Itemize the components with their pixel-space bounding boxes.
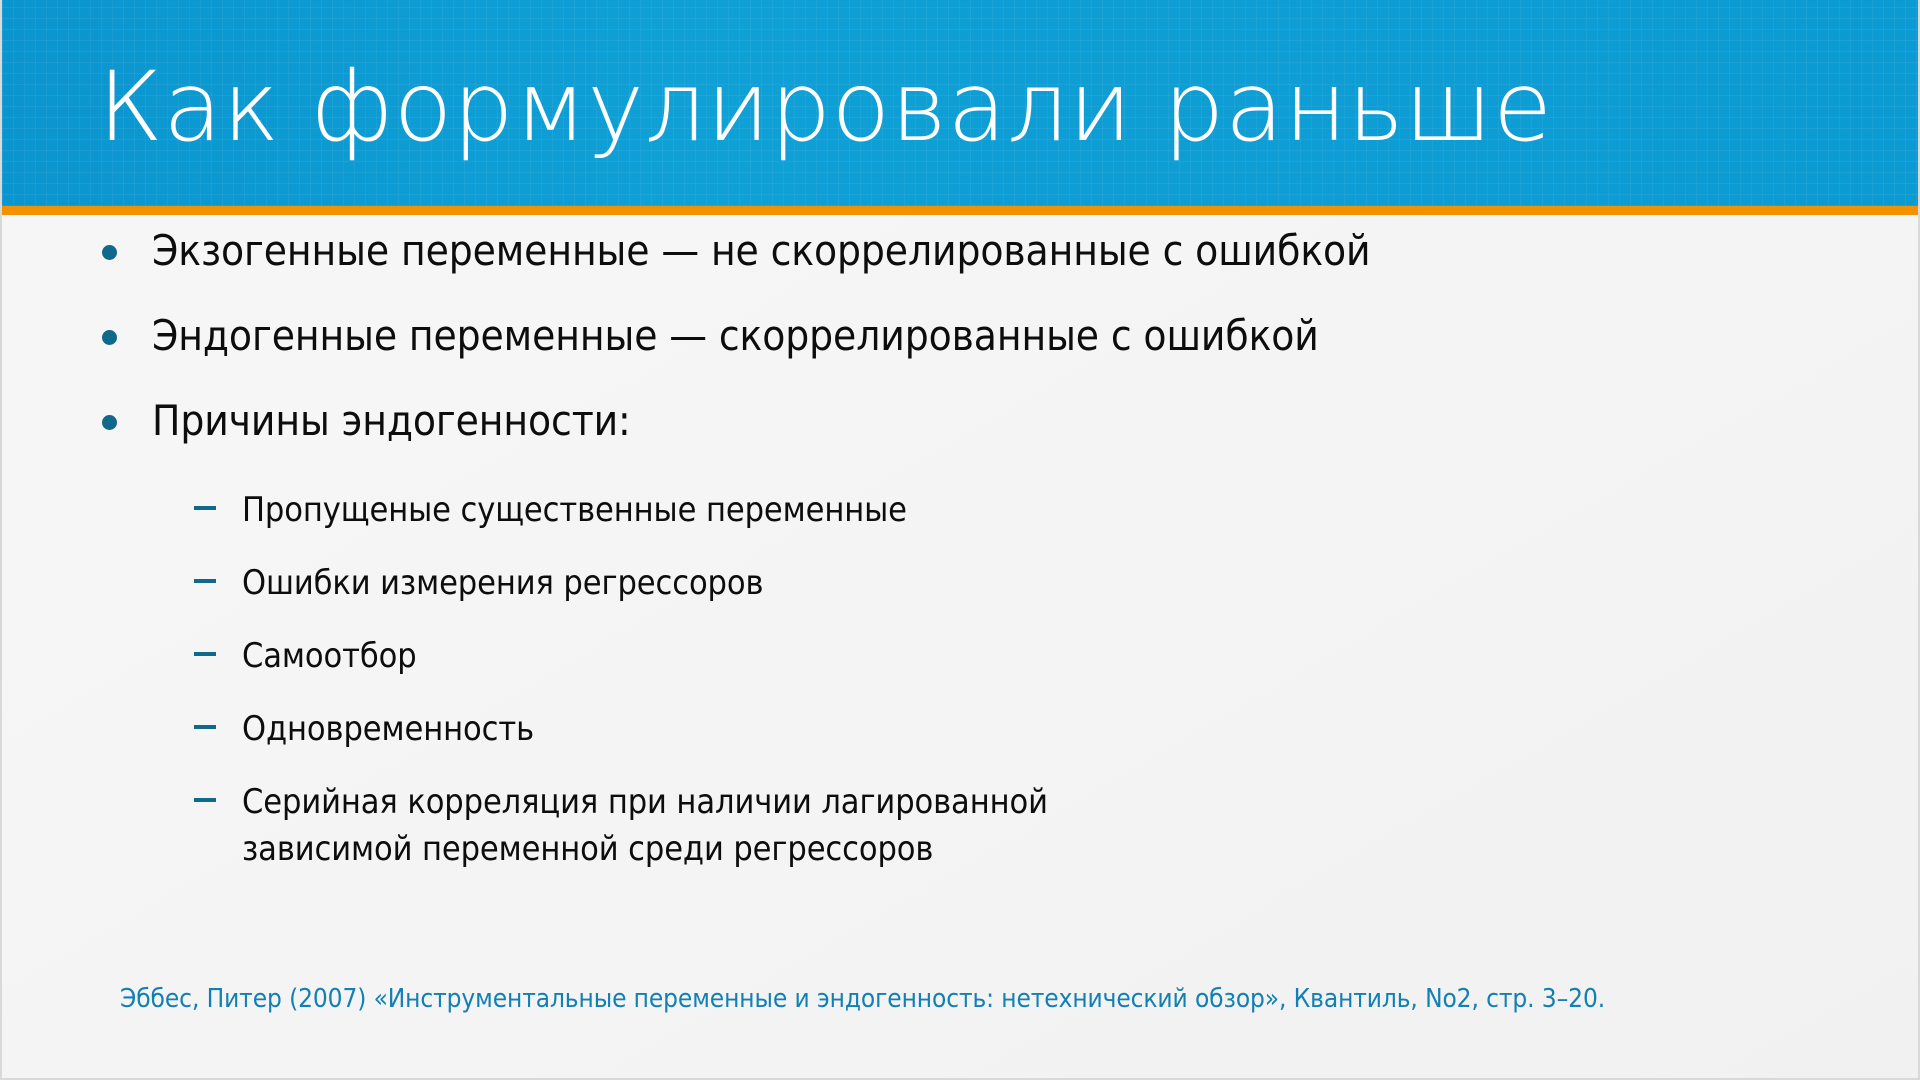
list-item-label: Причины эндогенности: [152, 395, 631, 447]
sub-list-item-line-2: зависимой переменной среди регрессоров [242, 826, 1048, 873]
sub-list-item: Серийная корреляция при наличии лагирова… [194, 779, 1834, 873]
bullet-dash-icon [194, 560, 242, 583]
slide-body: Экзогенные переменные — не скоррелирован… [2, 215, 1920, 1080]
sub-list-item-label: Ошибки измерения регрессоров [242, 560, 763, 607]
list-item: Экзогенные переменные — не скоррелирован… [102, 225, 1822, 277]
slide: Как формулировали раньше Экзогенные пере… [0, 0, 1920, 1080]
bullet-dash-icon [194, 487, 242, 510]
list-item-label: Эндогенные переменные — скоррелированные… [152, 310, 1319, 362]
bullet-dash-icon [194, 633, 242, 656]
bullet-dash-icon [194, 706, 242, 729]
sub-list-item: Ошибки измерения регрессоров [194, 560, 1834, 607]
bullet-dot-icon [102, 310, 152, 345]
list-item-label: Экзогенные переменные — не скоррелирован… [152, 225, 1371, 277]
sub-list-item-label: Самоотбор [242, 633, 417, 680]
sub-list-item: Одновременность [194, 706, 1834, 753]
bullet-dot-icon [102, 395, 152, 430]
sub-list-item-label: Одновременность [242, 706, 534, 753]
title-band: Как формулировали раньше [2, 0, 1920, 206]
list-item: Причины эндогенности: [102, 395, 1822, 447]
citation-footnote: Эббес, Питер (2007) «Инструментальные пе… [120, 982, 1605, 1016]
sub-list-item-label: Серийная корреляция при наличии лагирова… [242, 779, 1048, 873]
sub-list-item-line-1: Серийная корреляция при наличии лагирова… [242, 779, 1048, 826]
sub-list-item: Самоотбор [194, 633, 1834, 680]
bullet-dot-icon [102, 225, 152, 260]
bullet-dash-icon [194, 779, 242, 802]
list-item: Эндогенные переменные — скоррелированные… [102, 310, 1822, 362]
page-title: Как формулировали раньше [98, 48, 1553, 166]
sub-list-item-label: Пропущеные существенные переменные [242, 487, 907, 534]
sub-list-item: Пропущеные существенные переменные [194, 487, 1834, 534]
accent-divider [2, 206, 1920, 215]
